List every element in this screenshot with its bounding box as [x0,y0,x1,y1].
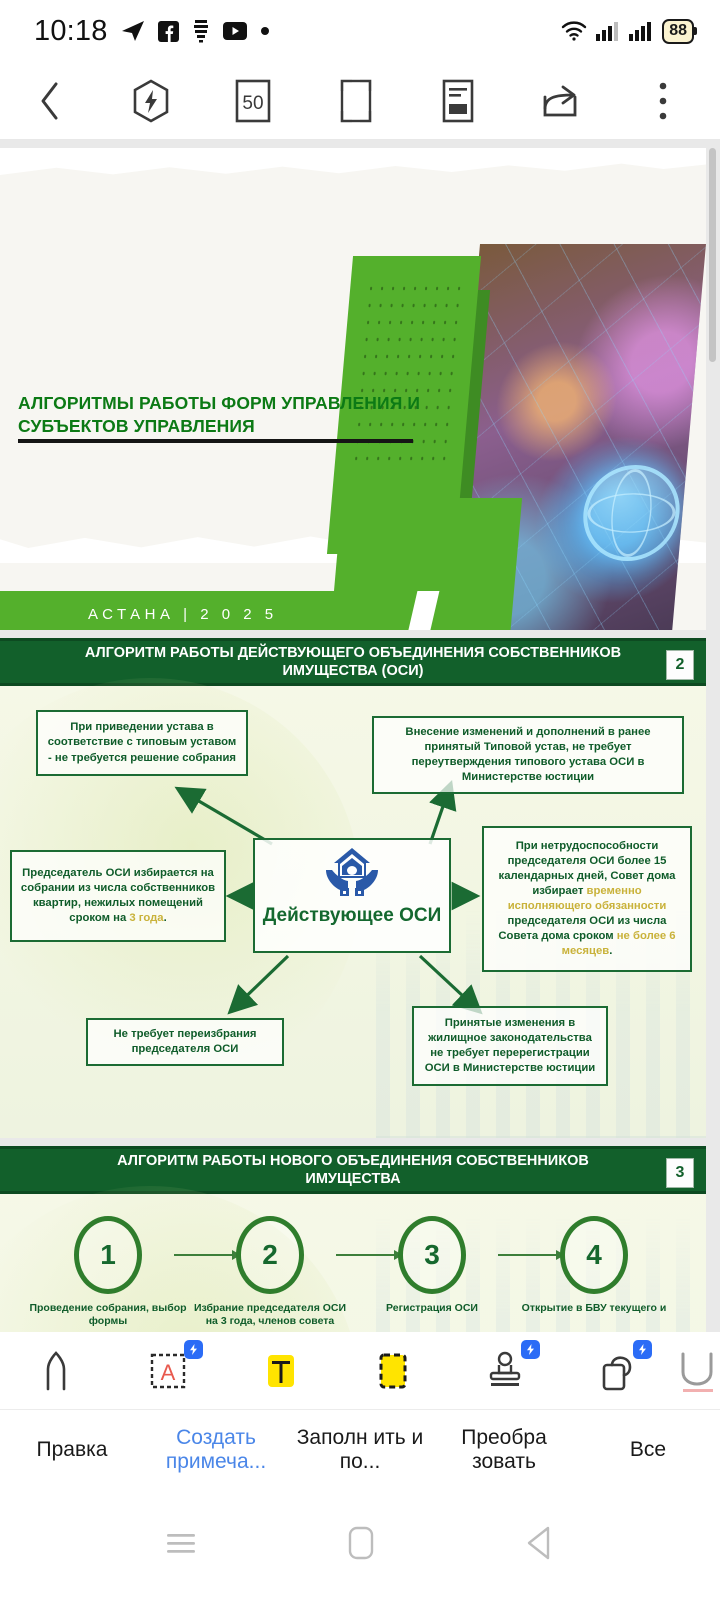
app-icon [192,19,210,43]
signal-sim1-icon [596,21,620,41]
pen-tool-icon[interactable] [0,1332,112,1410]
ai-badge-icon [633,1340,652,1359]
fit-screen-icon[interactable] [327,72,385,130]
step-number-2: 2 [236,1216,304,1294]
diagram-box-bottom-left: Не требует переизбрания председателя ОСИ [86,1018,284,1066]
signal-sim2-icon [629,21,653,41]
slide-1-title: АЛГОРИТМЫ РАБОТЫ ФОРМ УПРАВЛЕНИЯ И СУБЪЕ… [0,148,706,638]
title-underline [18,439,413,443]
diagram-center-label: Действующее ОСИ [263,905,442,927]
page-count-icon[interactable]: 50 [224,72,282,130]
toolbar-actions: 50 [100,72,720,130]
diagram-box-bottom-right: Принятые изменения в жилищное законодате… [412,1006,608,1086]
youtube-icon [223,22,247,40]
slide-2-number-badge: 2 [666,650,694,680]
diagram-box-left: Председатель ОСИ избирается на собрании … [10,850,226,942]
status-bar-left: 10:18 [34,15,270,48]
svg-text:A: A [161,1360,176,1385]
tab-fill-and-sign[interactable]: Заполн ить и по... [288,1426,432,1474]
diagram-box-top-left: При приведении устава в соответствие с т… [36,710,248,776]
steps-row: 1 Проведение собрания, выбор формы 2 Изб… [0,1216,706,1332]
slide-divider-2 [0,1138,706,1146]
step-caption-4: Открытие в БВУ текущего и [514,1302,674,1315]
tab-convert[interactable]: Преобра зовать [432,1426,576,1474]
battery-icon: 88 [662,19,694,44]
slide-divider-1 [0,630,706,638]
stamp-tool-icon[interactable] [449,1332,561,1410]
step-caption-3: Регистрация ОСИ [352,1302,512,1315]
status-bar: 10:18 [0,0,720,62]
house-in-hands-icon [322,844,382,903]
back-nav-icon[interactable] [523,1524,557,1567]
slide-1-heading: АЛГОРИТМЫ РАБОТЫ ФОРМ УПРАВЛЕНИЯ И СУБЪЕ… [18,392,423,438]
slide-3-header: АЛГОРИТМ РАБОТЫ НОВОГО ОБЪЕДИНЕНИЯ СОБСТ… [0,1146,706,1194]
ai-badge-icon [521,1340,540,1359]
facebook-icon [158,21,179,42]
recents-nav-icon[interactable] [163,1525,199,1566]
tab-create-annotation[interactable]: Создать примеча... [144,1426,288,1474]
highlight-area-tool-icon[interactable] [337,1332,449,1410]
svg-text:50: 50 [243,93,264,114]
diagram-box-top-right: Внесение изменений и дополнений в ранее … [372,716,684,794]
slide-1-footer-text: АСТАНА | 2 0 2 5 [88,606,278,623]
diagram-box-right-text-3: . [609,945,612,957]
document-viewport[interactable]: АЛГОРИТМЫ РАБОТЫ ФОРМ УПРАВЛЕНИЯ И СУБЪЕ… [0,140,720,1332]
wifi-icon [561,20,587,42]
underline-tool-icon[interactable] [674,1332,720,1410]
annotation-toolbar: A [0,1332,720,1410]
android-nav-bar [0,1490,720,1600]
text-recognize-tool-icon[interactable]: A [112,1332,224,1410]
step-number-3: 3 [398,1216,466,1294]
vertical-scrollbar[interactable] [709,148,716,362]
notification-dot-icon [260,26,270,36]
step-number-1: 1 [74,1216,142,1294]
step-caption-1: Проведение собрания, выбор формы [28,1302,188,1328]
slide-2-header: АЛГОРИТМ РАБОТЫ ДЕЙСТВУЮЩЕГО ОБЪЕДИНЕНИЯ… [0,638,706,686]
slide-3-steps: АЛГОРИТМ РАБОТЫ НОВОГО ОБЪЕДИНЕНИЯ СОБСТ… [0,1146,706,1332]
diagram-box-right: При нетрудоспособности председателя ОСИ … [482,826,692,972]
diagram-center-node: Действующее ОСИ [253,838,451,953]
step-item-2: 2 Избрание председателя ОСИ на 3 года, ч… [190,1216,350,1328]
flash-hexagon-icon[interactable] [122,72,180,130]
slide-3-number-badge: 3 [666,1158,694,1188]
paper-texture-top [0,148,706,178]
more-options-icon[interactable] [634,72,692,130]
slide-2-header-text: АЛГОРИТМ РАБОТЫ ДЕЙСТВУЮЩЕГО ОБЪЕДИНЕНИЯ… [73,644,633,680]
step-caption-2: Избрание председателя ОСИ на 3 года, чле… [190,1302,350,1328]
tab-edit[interactable]: Правка [0,1438,144,1462]
diagram-box-left-highlight: 3 года [129,912,163,924]
back-button[interactable] [0,81,100,121]
step-number-4: 4 [560,1216,628,1294]
app-toolbar: 50 [0,62,720,140]
diagram-box-left-text-2: . [164,912,167,924]
slide-3-header-text: АЛГОРИТМ РАБОТЫ НОВОГО ОБЪЕДИНЕНИЯ СОБСТ… [73,1152,633,1188]
share-icon[interactable] [531,72,589,130]
telegram-icon [121,20,145,42]
status-time: 10:18 [34,15,108,48]
diagram-box-left-text-1: Председатель ОСИ избирается на собрании … [21,867,215,924]
highlight-text-tool-icon[interactable] [225,1332,337,1410]
ai-badge-icon [184,1340,203,1359]
mode-tab-bar: Правка Создать примеча... Заполн ить и п… [0,1410,720,1490]
step-item-3: 3 Регистрация ОСИ [352,1216,512,1315]
phone-screen: 10:18 [0,0,720,1600]
shape-tool-icon[interactable] [562,1332,674,1410]
step-item-4: 4 Открытие в БВУ текущего и [514,1216,674,1315]
home-nav-icon[interactable] [345,1523,377,1568]
step-item-1: 1 Проведение собрания, выбор формы [28,1216,188,1328]
slide-2-diagram: АЛГОРИТМ РАБОТЫ ДЕЙСТВУЮЩЕГО ОБЪЕДИНЕНИЯ… [0,638,706,1138]
tab-all[interactable]: Все [576,1438,720,1462]
status-bar-right: 88 [561,19,694,44]
reading-mode-icon[interactable] [429,72,487,130]
